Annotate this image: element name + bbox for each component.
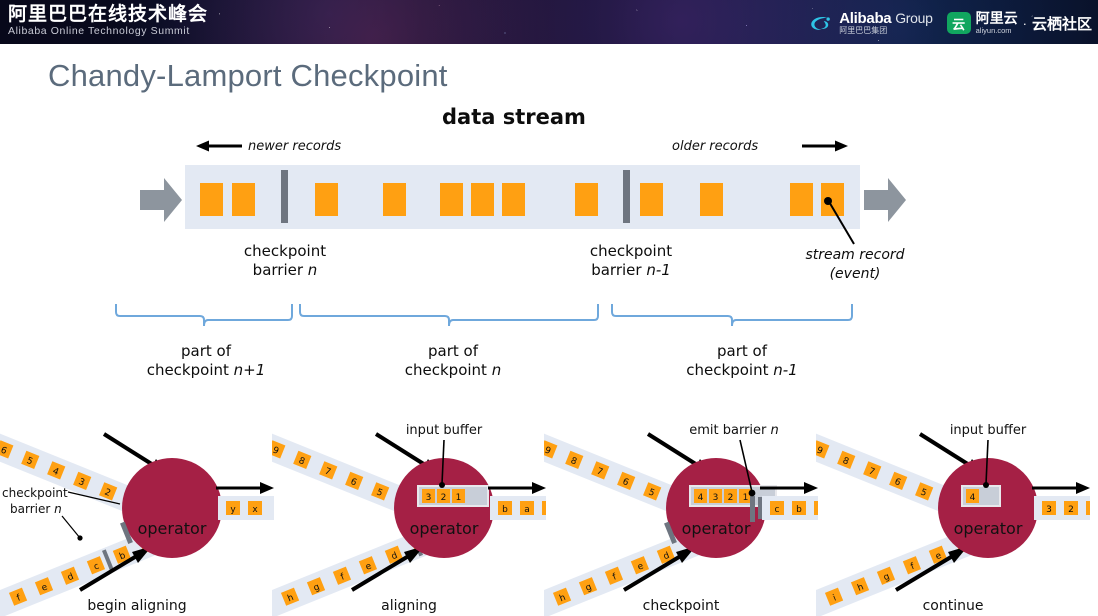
checkpoint-barrier-n-1-label: checkpoint barrier n-1 [556, 242, 706, 280]
banner-logos: Alibaba Group 阿里巴巴集团 云 阿里云 aliyun.com · … [808, 5, 1092, 41]
alibaba-wordmark: Alibaba Group 阿里巴巴集团 [839, 11, 932, 35]
input-buffer: 4 [962, 486, 1000, 506]
banner-title-en: Alibaba Online Technology Summit [8, 25, 208, 38]
part-of-checkpoint-n-label: part of checkpoint n [373, 342, 533, 380]
banner-title-block: 阿里巴巴在线技术峰会 Alibaba Online Technology Sum… [8, 3, 208, 38]
stream-record-2 [315, 183, 338, 216]
panel-caption: begin aligning [0, 598, 274, 614]
older-records-label: older records [672, 139, 758, 154]
aliyun-badge-icon: 云 [947, 12, 971, 34]
stream-record-5 [471, 183, 494, 216]
panel-caption: checkpoint [544, 598, 818, 614]
svg-text:3: 3 [713, 493, 719, 503]
stream-record-6 [502, 183, 525, 216]
stream-record-8 [640, 183, 663, 216]
alibaba-group-word: Group [895, 10, 932, 26]
operator-circle [938, 458, 1038, 558]
svg-text:a: a [524, 505, 530, 515]
stream-record-10 [790, 183, 813, 216]
output-stream: yx [218, 496, 274, 520]
operator-label: operator [410, 519, 479, 538]
alibaba-smile-icon [808, 13, 834, 33]
banner-title-cn: 阿里巴巴在线技术峰会 [8, 3, 208, 25]
newer-records-label: newer records [248, 139, 341, 154]
header-banner: 阿里巴巴在线技术峰会 Alibaba Online Technology Sum… [0, 0, 1098, 46]
svg-text:checkpoint: checkpoint [2, 486, 68, 500]
operator-panel-aligning: 987654hgfedcoperator321bayinput bufferal… [272, 412, 546, 616]
svg-text:input buffer: input buffer [406, 423, 483, 438]
emit-barrier-mark [750, 496, 755, 522]
svg-text:barrier n: barrier n [10, 502, 62, 516]
panel-caption: continue [816, 598, 1090, 614]
part-of-checkpoint-n1-label: part of checkpoint n+1 [126, 342, 286, 380]
operator-panel-begin-aligning: 654321fedcbaoperatoryxcheckpointbarrier … [0, 412, 274, 616]
stream-record-4 [440, 183, 463, 216]
svg-text:x: x [252, 505, 258, 515]
stream-record-0 [200, 183, 223, 216]
stream-inflow-arrow-icon [140, 176, 182, 224]
svg-text:y: y [230, 505, 236, 515]
svg-text:2: 2 [441, 493, 447, 503]
svg-text:3: 3 [426, 493, 432, 503]
stream-barrier-1 [623, 170, 630, 223]
output-arrow-icon [488, 482, 546, 494]
svg-text:b: b [502, 505, 508, 515]
svg-text:emit barrier n: emit barrier n [689, 423, 779, 438]
input-buffer: 321 [418, 486, 488, 506]
operator-label: operator [954, 519, 1023, 538]
newer-records-arrow-icon [196, 140, 244, 152]
banner-bottom-rule [0, 44, 1098, 46]
operator-label: operator [138, 519, 207, 538]
stream-record-3 [383, 183, 406, 216]
output-stream: 321c [1034, 496, 1090, 520]
aliyun-cn: 阿里云 [976, 12, 1018, 26]
operator-circle [122, 458, 222, 558]
aliyun-wordmark: 阿里云 aliyun.com [976, 12, 1018, 35]
aliyun-domain: aliyun.com [976, 27, 1018, 35]
alibaba-name: Alibaba [839, 10, 891, 27]
svg-text:2: 2 [1068, 505, 1074, 515]
checkpoint-part-braces [100, 300, 860, 330]
output-arrow-icon [1032, 482, 1090, 494]
svg-text:3: 3 [1046, 505, 1052, 515]
stream-record-9 [700, 183, 723, 216]
stream-record-7 [575, 183, 598, 216]
alibaba-cn: 阿里巴巴集团 [839, 27, 932, 35]
stream-record-1 [232, 183, 255, 216]
stream-record-event-label: stream record (event) [772, 246, 938, 284]
svg-text:4: 4 [970, 493, 976, 503]
older-records-arrow-icon [800, 140, 848, 152]
svg-text:b: b [796, 505, 802, 515]
operator-panel-continue: 98765ihgfedoperator4321cinput buffercont… [816, 412, 1090, 616]
svg-text:1: 1 [456, 493, 462, 503]
data-stream-title: data stream [442, 105, 586, 129]
svg-text:c: c [775, 505, 780, 515]
logo-separator-dot: · [1023, 16, 1027, 31]
svg-text:1: 1 [743, 493, 749, 503]
aliyun-logo: 云 阿里云 aliyun.com · 云栖社区 [947, 12, 1092, 35]
output-stream: cba [758, 496, 818, 520]
panel-caption: aligning [272, 598, 546, 614]
page-title: Chandy-Lamport Checkpoint [48, 58, 448, 94]
operator-label: operator [682, 519, 751, 538]
output-arrow-icon [216, 482, 274, 494]
output-stream: bay [490, 496, 546, 520]
community-name: 云栖社区 [1032, 13, 1092, 34]
svg-text:input buffer: input buffer [950, 423, 1027, 438]
stream-record-callout-line [812, 196, 872, 248]
operator-panel-checkpoint: 98765hgfedoperator4321cbaemit barrier nc… [544, 412, 818, 616]
svg-text:2: 2 [728, 493, 734, 503]
stream-barrier-0 [281, 170, 288, 223]
alibaba-group-logo: Alibaba Group 阿里巴巴集团 [808, 11, 932, 35]
svg-text:4: 4 [698, 493, 704, 503]
part-of-checkpoint-n-1-label: part of checkpoint n-1 [662, 342, 822, 380]
checkpoint-barrier-n-label: checkpoint barrier n [210, 242, 360, 280]
operator-circle [394, 458, 494, 558]
